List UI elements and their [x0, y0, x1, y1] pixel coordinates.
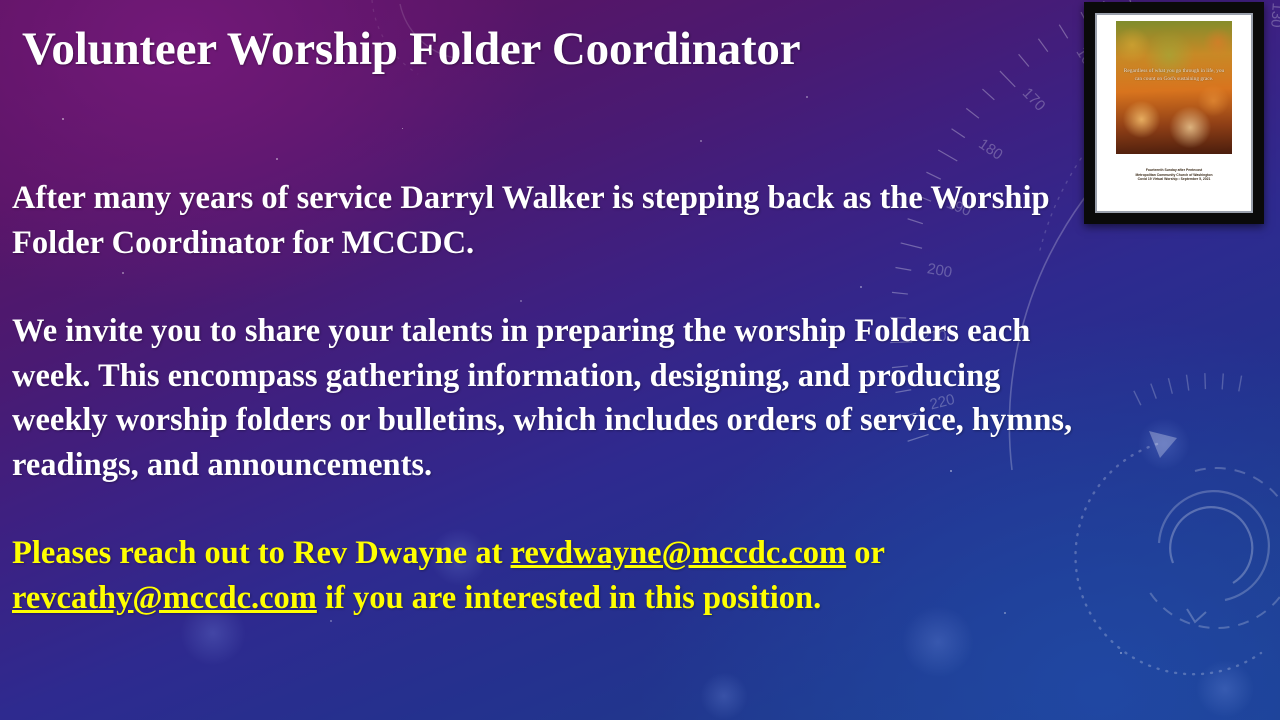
email-link-revcathy[interactable]: revcathy@mccdc.com: [12, 580, 317, 616]
svg-text:180: 180: [975, 136, 1005, 164]
autumn-leaves-photo: Regardless of what you go through in lif…: [1116, 21, 1232, 154]
caption-line-3: Covid 19 Virtual Worship • September 5, …: [1123, 177, 1225, 182]
svg-text:130: 130: [1267, 2, 1280, 28]
contact-tail-text: if you are interested in this position.: [317, 580, 821, 616]
photo-caption: Fourteenth Sunday after Pentecost Metrop…: [1123, 168, 1225, 182]
worship-folder-thumbnail: Regardless of what you go through in lif…: [1084, 2, 1264, 224]
email-link-revdwayne[interactable]: revdwayne@mccdc.com: [511, 535, 847, 571]
contact-lead-text: Pleases reach out to Rev Dwayne at: [12, 535, 511, 571]
page-title: Volunteer Worship Folder Coordinator: [22, 22, 1062, 77]
slide-body: After many years of service Darryl Walke…: [12, 176, 1082, 620]
contact-conjunction: or: [846, 535, 884, 571]
presentation-slide: 220 210 200 190 180 170 160 150 140 130 …: [0, 0, 1280, 720]
paragraph-announcement: After many years of service Darryl Walke…: [12, 176, 1082, 265]
svg-text:170: 170: [1019, 85, 1049, 115]
paragraph-invitation: We invite you to share your talents in p…: [12, 309, 1082, 487]
paragraph-contact: Pleases reach out to Rev Dwayne at revdw…: [12, 531, 1082, 620]
photo-quote-text: Regardless of what you go through in lif…: [1122, 67, 1226, 84]
picture-mat: Regardless of what you go through in lif…: [1095, 13, 1253, 213]
